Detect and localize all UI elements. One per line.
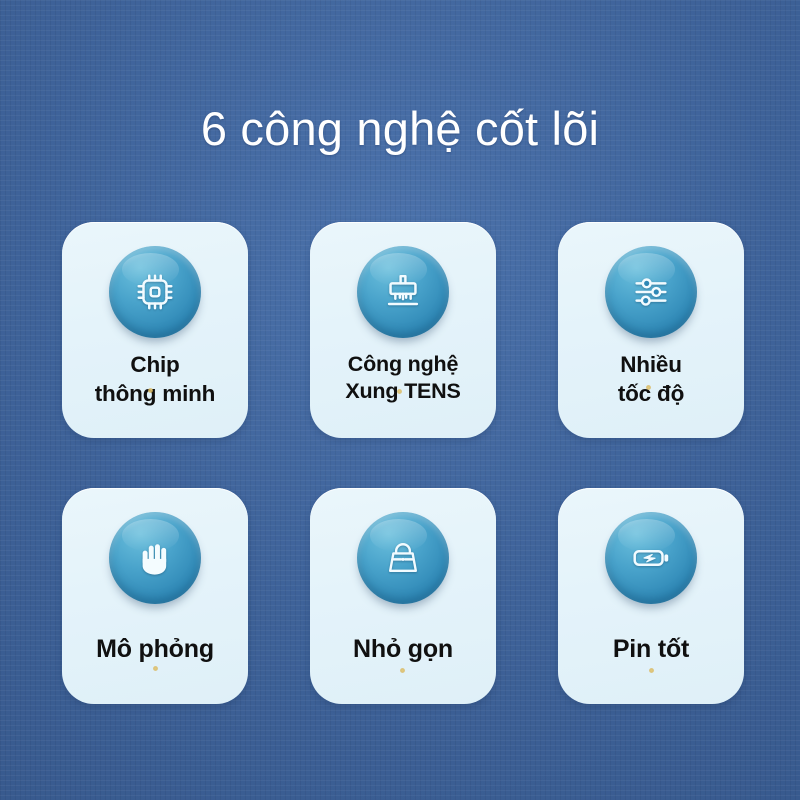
speck-artifact [153,666,158,671]
feature-card-compact[interactable]: Nhỏ gọn [310,488,496,704]
sliders-icon [628,269,674,315]
feature-label-line1: Mô phỏng [66,634,244,666]
microchip-icon [132,269,178,315]
feature-icon-badge [605,512,697,604]
feature-card-simulation[interactable]: Mô phỏng [62,488,248,704]
feature-label: Nhiều tốc độ [558,351,744,408]
battery-charging-icon [628,535,674,581]
feature-label-line2: tốc độ [562,380,740,409]
feature-label: Nhỏ gọn [310,634,496,666]
handbag-icon [381,536,425,580]
feature-icon-badge [109,246,201,338]
feature-label: Công nghệ Xung TENS [310,351,496,406]
feature-label-line1: Nhiều [562,351,740,380]
feature-icon-badge [605,246,697,338]
hand-palm-icon [133,536,177,580]
feature-label-line2: Xung TENS [314,378,492,405]
feature-label-line1: Chip [66,351,244,380]
feature-label-line1: Pin tốt [562,634,740,666]
feature-card-battery[interactable]: Pin tốt [558,488,744,704]
feature-label-line1: Nhỏ gọn [314,634,492,666]
feature-icon-badge [357,246,449,338]
feature-card-speed[interactable]: Nhiều tốc độ [558,222,744,438]
feature-label-line2: thông minh [66,380,244,409]
feature-grid: Chip thông minh Công nghệ Xung TE [62,222,744,704]
feature-icon-badge [109,512,201,604]
poster-canvas: 6 công nghệ cốt lõi Chip thông [0,0,800,800]
feature-label: Mô phỏng [62,634,248,666]
tens-electrode-icon [380,269,426,315]
speck-artifact [400,668,405,673]
feature-label-line1: Công nghệ [314,351,492,378]
page-title: 6 công nghệ cốt lõi [0,103,800,156]
feature-label: Chip thông minh [62,351,248,408]
feature-card-chip[interactable]: Chip thông minh [62,222,248,438]
feature-label: Pin tốt [558,634,744,666]
feature-icon-badge [357,512,449,604]
feature-card-tens[interactable]: Công nghệ Xung TENS [310,222,496,438]
speck-artifact [649,668,654,673]
